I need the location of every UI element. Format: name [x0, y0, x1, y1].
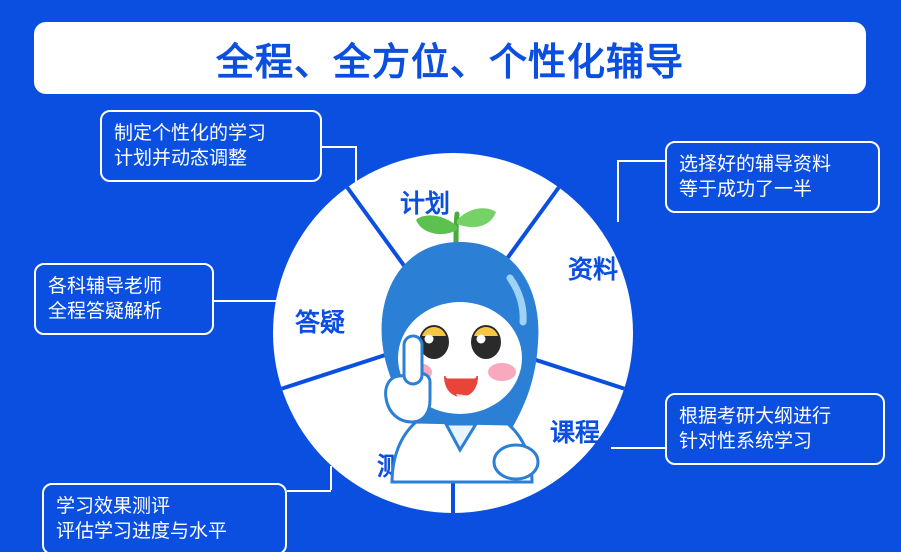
connector-qa-horizontal	[214, 300, 276, 302]
callout-qa-line2: 全程答疑解析	[48, 299, 200, 324]
callout-course-line2: 针对性系统学习	[679, 429, 871, 454]
callout-qa: 各科辅导老师 全程答疑解析	[34, 263, 214, 335]
mascot-hand-right	[494, 445, 538, 479]
callout-qa-line1: 各科辅导老师	[48, 274, 200, 299]
connector-test-horizontal	[287, 490, 331, 492]
callout-plan-line2: 计划并动态调整	[114, 146, 308, 171]
callout-course: 根据考研大纲进行 针对性系统学习	[665, 393, 885, 465]
callout-test-line2: 评估学习进度与水平	[56, 519, 273, 544]
callout-test-line1: 学习效果测评	[56, 494, 273, 519]
connector-plan-horizontal	[322, 146, 356, 148]
blueberry-mascot-icon	[360, 200, 560, 490]
callout-plan: 制定个性化的学习 计划并动态调整	[100, 110, 322, 182]
sprout-leaf-icon	[416, 208, 496, 244]
page-title-banner: 全程、全方位、个性化辅导	[34, 22, 866, 94]
callout-course-line1: 根据考研大纲进行	[679, 404, 871, 429]
connector-course-horizontal	[611, 447, 665, 449]
connector-test-vertical	[330, 466, 332, 490]
wheel-label-qa: 答疑	[295, 303, 345, 339]
connector-material-vertical	[617, 160, 619, 222]
infographic-canvas: 全程、全方位、个性化辅导 计划 资料 课程 测评 答疑	[0, 0, 901, 552]
callout-plan-line1: 制定个性化的学习	[114, 121, 308, 146]
callout-material: 选择好的辅导资料 等于成功了一半	[665, 141, 880, 213]
wheel-label-material: 资料	[568, 250, 618, 286]
page-title: 全程、全方位、个性化辅导	[216, 31, 684, 86]
callout-material-line1: 选择好的辅导资料	[679, 152, 866, 177]
callout-test: 学习效果测评 评估学习进度与水平	[42, 483, 287, 552]
connector-material-horizontal	[617, 160, 665, 162]
callout-material-line2: 等于成功了一半	[679, 177, 866, 202]
